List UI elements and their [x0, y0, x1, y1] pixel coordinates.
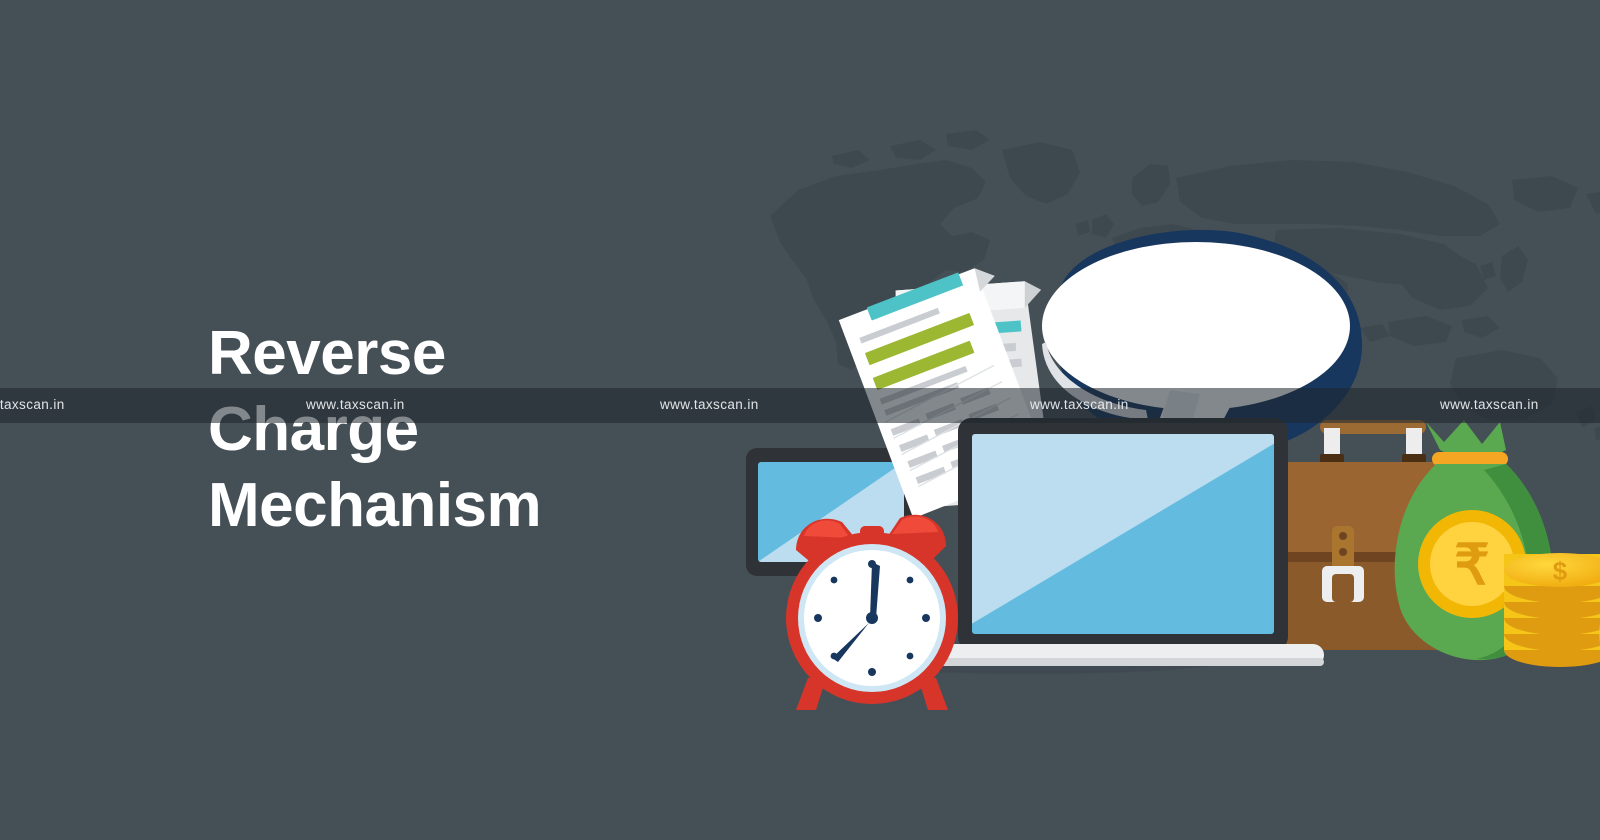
rupee-symbol: ₹ — [1454, 533, 1490, 596]
illustration-group: ₹ $ — [700, 230, 1600, 700]
laptop-device — [922, 418, 1324, 666]
banner-root: Reverse Charge Mechanism — [0, 0, 1600, 840]
dollar-symbol-top: $ — [1553, 556, 1568, 586]
alarm-clock — [786, 515, 958, 710]
watermark-text: www.taxscan.in — [0, 397, 65, 412]
coin-stack: $ — [1504, 553, 1600, 667]
